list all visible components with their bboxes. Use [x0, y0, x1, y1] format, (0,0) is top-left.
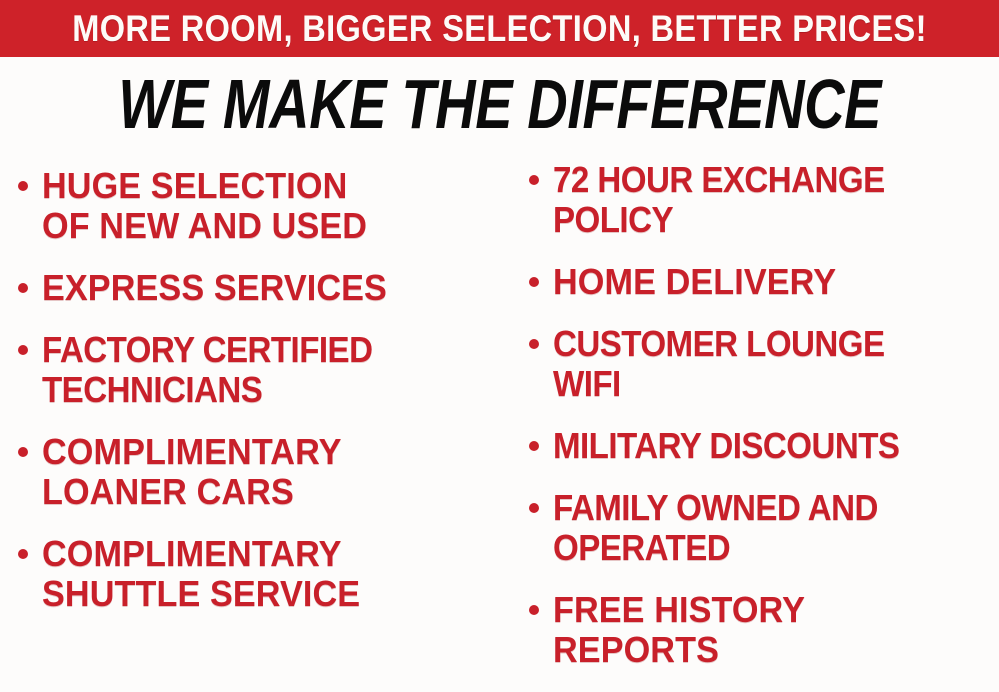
list-item: FREE HISTORY REPORTS [529, 590, 999, 670]
benefits-column-right: 72 HOUR EXCHANGE POLICY HOME DELIVERY CU… [508, 160, 999, 692]
top-banner: MORE ROOM, BIGGER SELECTION, BETTER PRIC… [0, 0, 999, 57]
page-title: WE MAKE THE DIFFERENCE [118, 69, 881, 139]
list-item: HOME DELIVERY [529, 262, 999, 302]
list-item-label: FACTORY CERTIFIED TECHNICIANS [42, 330, 372, 410]
list-item-label: COMPLIMENTARY LOANER CARS [42, 432, 342, 512]
list-item: CUSTOMER LOUNGE WIFI [529, 324, 999, 404]
list-item: FACTORY CERTIFIED TECHNICIANS [18, 330, 508, 410]
list-item: EXPRESS SERVICES [18, 268, 508, 308]
headline-container: WE MAKE THE DIFFERENCE [0, 68, 999, 140]
list-item: HUGE SELECTION OF NEW AND USED [18, 166, 508, 246]
list-item-label: EXPRESS SERVICES [42, 268, 387, 308]
bullet-dot-icon [18, 447, 28, 457]
promotional-poster: MORE ROOM, BIGGER SELECTION, BETTER PRIC… [0, 0, 999, 692]
bullet-dot-icon [18, 345, 28, 355]
list-item-label: HOME DELIVERY [553, 262, 836, 302]
list-item: COMPLIMENTARY LOANER CARS [18, 432, 508, 512]
bullet-dot-icon [18, 181, 28, 191]
list-item-label: FREE HISTORY REPORTS [553, 590, 805, 670]
bullet-dot-icon [529, 339, 539, 349]
benefits-column-left: HUGE SELECTION OF NEW AND USED EXPRESS S… [0, 160, 508, 636]
bullet-dot-icon [18, 283, 28, 293]
bullet-dot-icon [529, 277, 539, 287]
list-item: COMPLIMENTARY SHUTTLE SERVICE [18, 534, 508, 614]
list-item: FAMILY OWNED AND OPERATED [529, 488, 999, 568]
bullet-dot-icon [529, 175, 539, 185]
list-item-label: FAMILY OWNED AND OPERATED [553, 488, 878, 568]
list-item-label: CUSTOMER LOUNGE WIFI [553, 324, 885, 404]
list-item-label: COMPLIMENTARY SHUTTLE SERVICE [42, 534, 360, 614]
list-item-label: MILITARY DISCOUNTS [553, 426, 899, 466]
bullet-dot-icon [529, 503, 539, 513]
list-item-label: 72 HOUR EXCHANGE POLICY [553, 160, 885, 240]
bullet-dot-icon [529, 605, 539, 615]
list-item: MILITARY DISCOUNTS [529, 426, 999, 466]
bullet-dot-icon [529, 441, 539, 451]
top-banner-text: MORE ROOM, BIGGER SELECTION, BETTER PRIC… [72, 10, 927, 47]
bullet-dot-icon [18, 549, 28, 559]
list-item-label: HUGE SELECTION OF NEW AND USED [42, 166, 367, 246]
benefits-columns: HUGE SELECTION OF NEW AND USED EXPRESS S… [0, 160, 999, 692]
list-item: 72 HOUR EXCHANGE POLICY [529, 160, 999, 240]
